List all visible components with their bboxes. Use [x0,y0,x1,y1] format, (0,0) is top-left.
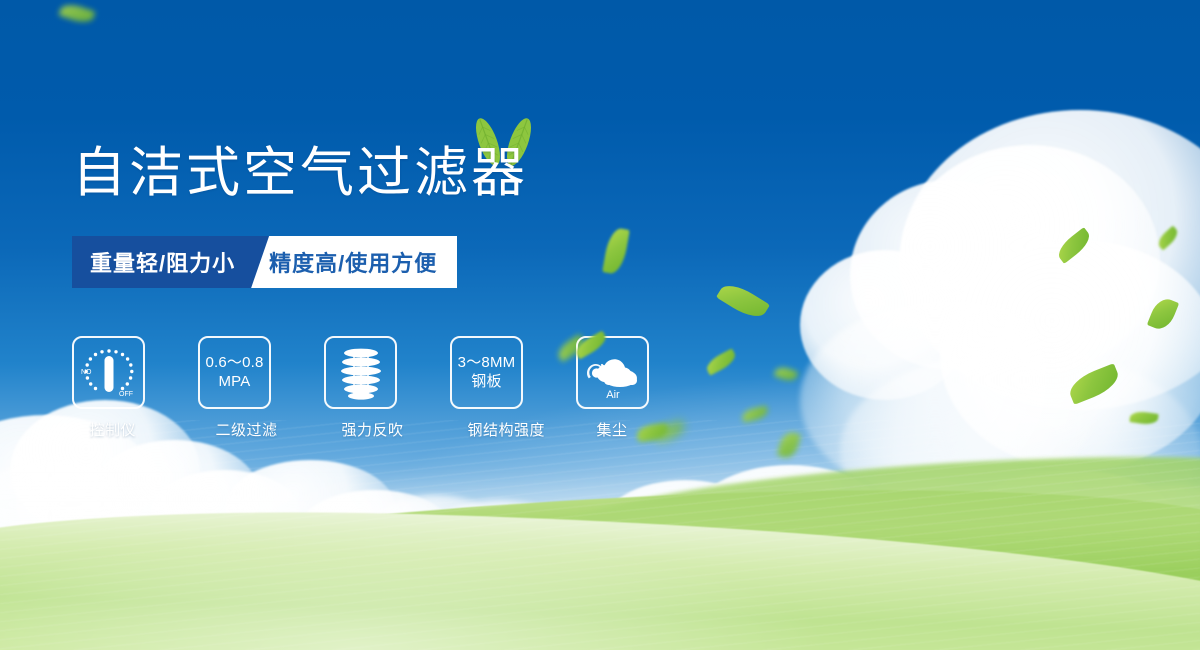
pressure-line-2: MPA [205,373,263,392]
feature-icon-box: Air [576,336,649,409]
coil-filter-icon [334,345,388,401]
feature-icon-box: NO OFF [72,336,145,409]
gauge-right-label: OFF [119,391,133,398]
gauge-left-label: NO [81,369,92,376]
feature-label: 钢结构强度 [468,419,505,440]
grass-highlight [0,420,1200,650]
pressure-line-1: 0.6〜0.8 [205,354,263,373]
feature-icon-box: 3〜8MM 钢板 [450,336,523,409]
cloud-air-label: Air [606,389,620,401]
grass-field [0,420,1200,650]
steel-text-icon: 3〜8MM 钢板 [458,354,516,392]
cloud-right-2 [900,145,1160,375]
feature-item-controller[interactable]: NO OFF 控制仪 [72,336,145,440]
cloud-right-3 [850,180,1050,370]
cloud-air-icon: Air [582,344,644,402]
feature-item-steel[interactable]: 3〜8MM 钢板 钢结构强度 [450,336,523,440]
cloud-right-4 [800,250,970,400]
pressure-text-icon: 0.6〜0.8 MPA [205,354,263,392]
page-title: 自洁式空气过滤器 [72,142,528,204]
subtitle-right: 精度高/使用方便 [251,236,457,288]
steel-line-1: 3〜8MM [458,354,516,373]
feature-label: 二级过滤 [216,419,253,440]
product-banner: 自洁式空气过滤器 重量轻/阻力小 精度高/使用方便 [0,0,1200,650]
feature-icon-box: 0.6〜0.8 MPA [198,336,271,409]
feature-label: 控制仪 [90,419,127,440]
feature-item-pressure[interactable]: 0.6〜0.8 MPA 二级过滤 [198,336,271,440]
feature-label: 强力反吹 [342,419,379,440]
cloud-right-1 [900,110,1200,410]
feature-item-dust[interactable]: Air 集尘 [576,336,649,440]
subtitle-bar: 重量轻/阻力小 精度高/使用方便 [72,236,457,288]
feature-label: 集尘 [594,419,631,440]
feature-icon-box [324,336,397,409]
feature-list: NO OFF 控制仪 0.6〜0.8 MPA 二级过滤 [72,336,649,440]
steel-line-2: 钢板 [458,373,516,392]
feature-item-blowback[interactable]: 强力反吹 [324,336,397,440]
gauge-icon: NO OFF [79,343,139,403]
subtitle-left: 重量轻/阻力小 [72,236,269,288]
